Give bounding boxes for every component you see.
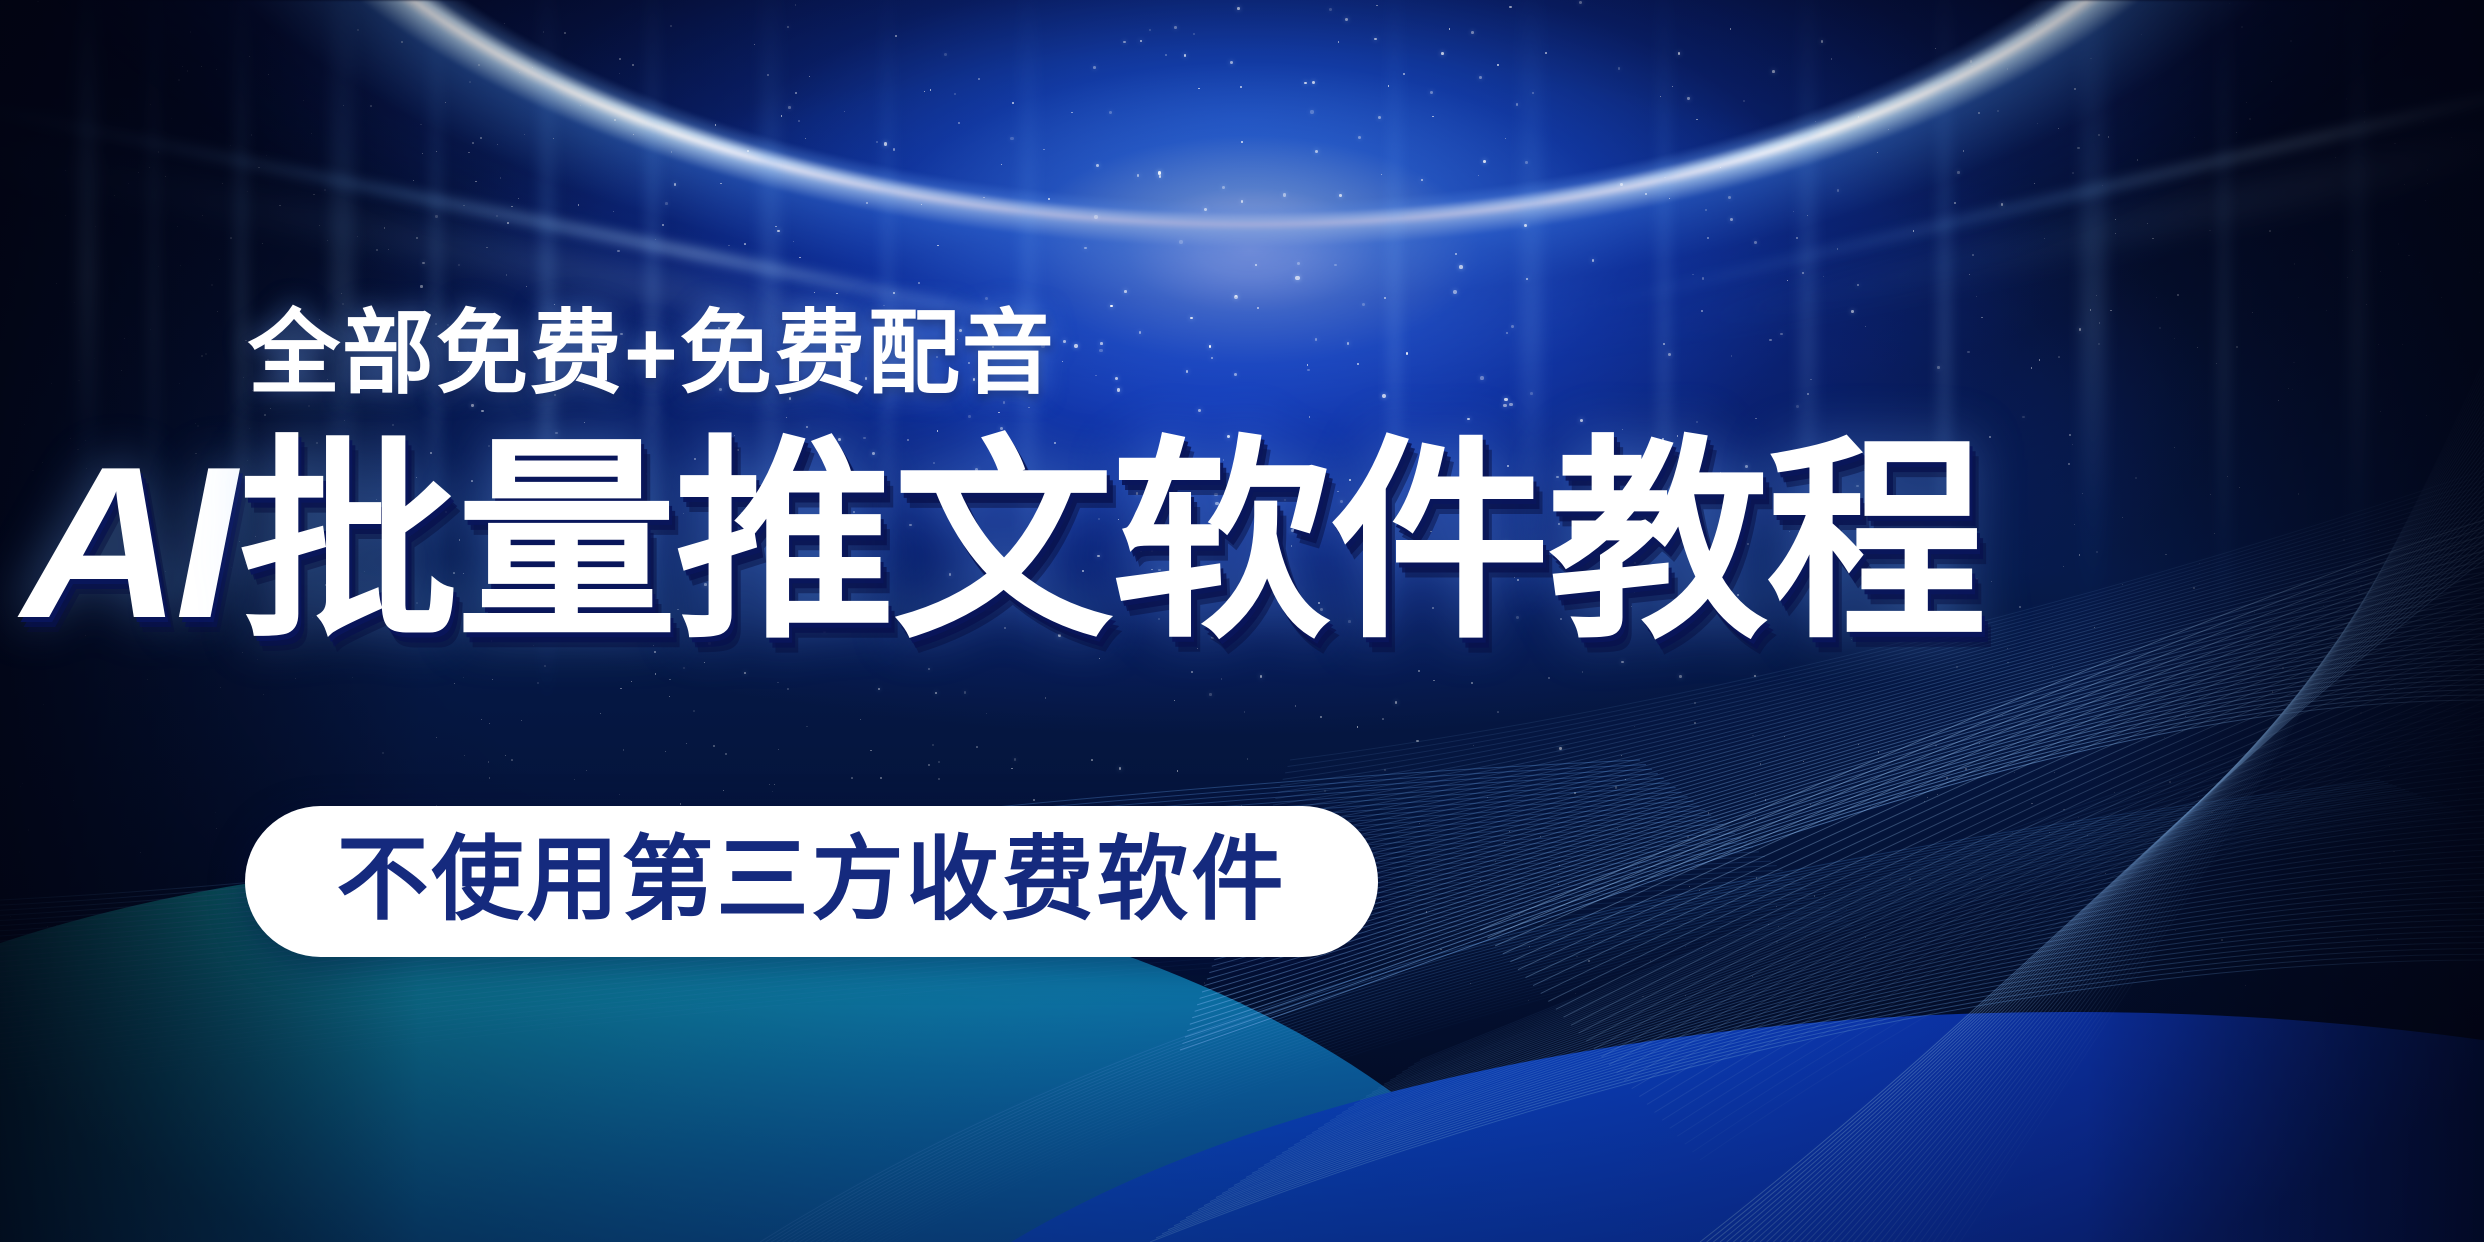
poster-content: 全部免费+免费配音 AI批量推文软件教程 不使用第三方收费软件 — [0, 0, 2484, 1242]
headline-prefix: AI — [22, 421, 238, 663]
subtitle-text: 全部免费+免费配音 — [248, 308, 1056, 400]
headline-main: 批量推文软件教程 — [238, 421, 1984, 663]
badge-pill: 不使用第三方收费软件 — [245, 806, 1378, 957]
poster-canvas: 全部免费+免费配音 AI批量推文软件教程 不使用第三方收费软件 — [0, 0, 2484, 1242]
badge-label: 不使用第三方收费软件 — [336, 834, 1286, 926]
headline-text: AI批量推文软件教程 — [22, 432, 2484, 652]
